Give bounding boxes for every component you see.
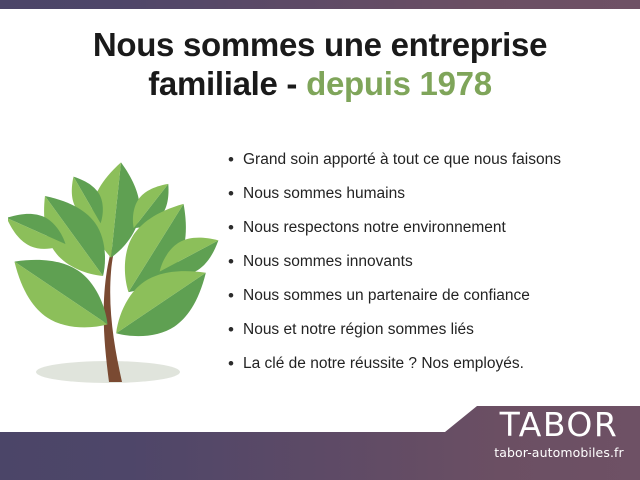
list-item: • Grand soin apporté à tout ce que nous … [228, 148, 628, 182]
page-title: Nous sommes une entreprise familiale -de… [0, 26, 640, 104]
footer-bar: TABOR tabor-automobiles.fr [0, 400, 640, 480]
list-item-label: La clé de notre réussite ? Nos employés. [243, 352, 524, 376]
list-item: • Nous respectons notre environnement [228, 216, 628, 250]
bullet-marker-icon: • [228, 216, 243, 240]
bullet-marker-icon: • [228, 182, 243, 206]
title-line-2: familiale -depuis 1978 [0, 65, 640, 104]
list-item-label: Nous sommes innovants [243, 250, 413, 274]
list-item-label: Nous et notre région sommes liés [243, 318, 474, 342]
list-item-label: Nous respectons notre environnement [243, 216, 506, 240]
list-item: • La clé de notre réussite ? Nos employé… [228, 352, 628, 386]
title-line-2-text: familiale - [148, 65, 297, 102]
tree-leaves [8, 160, 223, 356]
title-line-1-text: Nous sommes une entreprise [93, 26, 547, 63]
list-item: • Nous sommes innovants [228, 250, 628, 284]
footer-shape [0, 406, 640, 480]
title-accent-text: depuis 1978 [306, 65, 492, 102]
list-item-label: Nous sommes humains [243, 182, 405, 206]
top-accent-strip [0, 0, 640, 9]
list-item: • Nous sommes humains [228, 182, 628, 216]
tree-illustration [8, 148, 223, 393]
list-item: • Nous et notre région sommes liés [228, 318, 628, 352]
list-item: • Nous sommes un partenaire de confiance [228, 284, 628, 318]
benefits-list: • Grand soin apporté à tout ce que nous … [228, 148, 628, 386]
bullet-marker-icon: • [228, 148, 243, 172]
list-item-label: Nous sommes un partenaire de confiance [243, 284, 530, 308]
bullet-marker-icon: • [228, 318, 243, 342]
list-item-label: Grand soin apporté à tout ce que nous fa… [243, 148, 561, 172]
bullet-marker-icon: • [228, 352, 243, 376]
bullet-marker-icon: • [228, 284, 243, 308]
title-line-1: Nous sommes une entreprise [0, 26, 640, 65]
slide-canvas: Nous sommes une entreprise familiale -de… [0, 0, 640, 480]
bullet-marker-icon: • [228, 250, 243, 274]
